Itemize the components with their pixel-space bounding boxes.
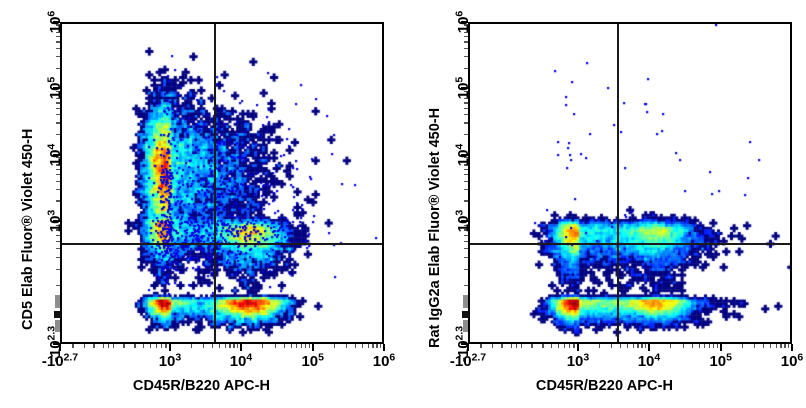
x-tick-minor bbox=[203, 344, 204, 348]
x-tick-minor bbox=[108, 344, 109, 348]
x-tick-minor bbox=[150, 344, 151, 348]
x-tick-minor bbox=[212, 344, 213, 348]
x-tick-minor bbox=[521, 344, 522, 348]
sample-plot-area[interactable] bbox=[60, 22, 384, 344]
sample-density-plot bbox=[62, 24, 382, 342]
y-tick-minor bbox=[56, 102, 60, 103]
x-tick-minor bbox=[301, 344, 302, 348]
x-tick-minor bbox=[511, 344, 512, 348]
x-tick-minor bbox=[531, 344, 532, 348]
y-tick-minor bbox=[56, 269, 60, 270]
y-tick-minor bbox=[56, 48, 60, 49]
x-tick-minor bbox=[699, 344, 700, 348]
y-tick-minor bbox=[464, 41, 468, 42]
x-tick-major bbox=[312, 344, 314, 351]
isotype-horizontal-gate[interactable] bbox=[470, 243, 790, 245]
y-tick-label: 105 bbox=[455, 77, 472, 100]
y-tick-minor bbox=[464, 36, 468, 37]
y-tick-label: 106 bbox=[47, 11, 64, 34]
x-tick-major bbox=[577, 344, 579, 351]
x-tick-minor bbox=[620, 344, 621, 348]
x-tick-minor bbox=[599, 344, 600, 348]
x-tick-minor bbox=[72, 344, 73, 348]
sample-axis-nub-lower[interactable] bbox=[55, 320, 60, 332]
x-tick-minor bbox=[542, 344, 543, 348]
x-tick-minor bbox=[704, 344, 705, 348]
x-tick-minor bbox=[551, 344, 552, 348]
x-tick-minor bbox=[334, 344, 335, 348]
y-tick-minor bbox=[464, 169, 468, 170]
x-tick-minor bbox=[229, 344, 230, 348]
y-tick-label: 103 bbox=[47, 210, 64, 233]
x-tick-minor bbox=[225, 344, 226, 348]
x-tick-minor bbox=[165, 344, 166, 348]
y-tick-minor bbox=[56, 108, 60, 109]
x-tick-minor bbox=[372, 344, 373, 348]
y-tick-minor bbox=[464, 102, 468, 103]
x-tick-minor bbox=[627, 344, 628, 348]
x-tick-major bbox=[383, 344, 385, 351]
x-tick-label: 103 bbox=[567, 353, 590, 370]
x-tick-minor bbox=[763, 344, 764, 348]
x-tick-minor bbox=[637, 344, 638, 348]
x-tick-major bbox=[720, 344, 722, 351]
x-tick-minor bbox=[93, 344, 94, 348]
y-tick-minor bbox=[464, 189, 468, 190]
sample-panel: -102.7103104105106 -102.3103104105106 CD… bbox=[0, 0, 403, 408]
isotype-y-axis-title: Rat IgG2a Elab Fluor® Violet 450-H bbox=[427, 108, 443, 348]
isotype-axis-nub-upper[interactable] bbox=[463, 295, 468, 308]
x-tick-label: 105 bbox=[709, 353, 732, 370]
x-tick-minor bbox=[305, 344, 306, 348]
x-tick-minor bbox=[713, 344, 714, 348]
x-tick-minor bbox=[717, 344, 718, 348]
x-tick-label: 104 bbox=[638, 353, 661, 370]
x-tick-minor bbox=[123, 344, 124, 348]
x-tick-minor bbox=[480, 344, 481, 348]
x-tick-minor bbox=[501, 344, 502, 348]
y-tick-minor bbox=[56, 200, 60, 201]
y-tick-minor bbox=[464, 235, 468, 236]
y-tick-minor bbox=[464, 56, 468, 57]
y-tick-label: 105 bbox=[47, 77, 64, 100]
x-tick-minor bbox=[770, 344, 771, 348]
x-tick-minor bbox=[156, 344, 157, 348]
x-tick-minor bbox=[573, 344, 574, 348]
x-tick-minor bbox=[262, 344, 263, 348]
y-tick-minor bbox=[56, 257, 60, 258]
flow-cytometry-figure: -102.7103104105106 -102.3103104105106 CD… bbox=[0, 0, 806, 408]
x-tick-minor bbox=[780, 344, 781, 348]
x-tick-major bbox=[791, 344, 793, 351]
y-tick-minor bbox=[464, 248, 468, 249]
x-tick-minor bbox=[776, 344, 777, 348]
x-tick-minor bbox=[380, 344, 381, 348]
y-tick-minor bbox=[464, 174, 468, 175]
x-tick-label: 106 bbox=[781, 353, 804, 370]
y-tick-label: 104 bbox=[47, 144, 64, 167]
x-tick-label: 103 bbox=[159, 353, 182, 370]
x-tick-minor bbox=[492, 344, 493, 348]
x-tick-minor bbox=[103, 344, 104, 348]
x-tick-minor bbox=[754, 344, 755, 348]
x-tick-minor bbox=[564, 344, 565, 348]
y-tick-minor bbox=[464, 257, 468, 258]
x-tick-minor bbox=[161, 344, 162, 348]
x-tick-label: 104 bbox=[230, 353, 253, 370]
x-tick-minor bbox=[346, 344, 347, 348]
x-tick-minor bbox=[113, 344, 114, 348]
y-tick-minor bbox=[56, 241, 60, 242]
x-tick-minor bbox=[368, 344, 369, 348]
isotype-axis-nub-handle[interactable] bbox=[462, 311, 469, 318]
isotype-density-plot bbox=[470, 24, 790, 342]
x-tick-minor bbox=[742, 344, 743, 348]
isotype-x-axis-title: CD45R/B220 APC-H bbox=[403, 378, 806, 394]
x-tick-minor bbox=[355, 344, 356, 348]
y-tick-minor bbox=[464, 122, 468, 123]
x-tick-minor bbox=[670, 344, 671, 348]
x-tick-minor bbox=[788, 344, 789, 348]
y-tick-minor bbox=[464, 285, 468, 286]
y-tick-minor bbox=[56, 56, 60, 57]
x-tick-minor bbox=[284, 344, 285, 348]
y-tick-minor bbox=[56, 122, 60, 123]
y-tick-minor bbox=[56, 36, 60, 37]
y-tick-minor bbox=[56, 248, 60, 249]
y-tick-minor bbox=[464, 269, 468, 270]
y-tick-label: 104 bbox=[455, 144, 472, 167]
sample-horizontal-gate[interactable] bbox=[62, 243, 382, 245]
x-tick-label: 106 bbox=[373, 353, 396, 370]
isotype-plot-area[interactable] bbox=[468, 22, 792, 344]
x-tick-major bbox=[648, 344, 650, 351]
sample-vertical-gate[interactable] bbox=[214, 24, 216, 342]
y-tick-minor bbox=[56, 114, 60, 115]
y-tick-minor bbox=[56, 169, 60, 170]
y-tick-minor bbox=[464, 134, 468, 135]
x-tick-minor bbox=[569, 344, 570, 348]
y-tick-label: 106 bbox=[455, 11, 472, 34]
x-tick-minor bbox=[709, 344, 710, 348]
y-tick-minor bbox=[56, 174, 60, 175]
y-tick-minor bbox=[56, 68, 60, 69]
y-tick-minor bbox=[464, 114, 468, 115]
y-tick-minor bbox=[56, 285, 60, 286]
x-tick-minor bbox=[233, 344, 234, 348]
y-tick-minor bbox=[464, 48, 468, 49]
x-tick-minor bbox=[219, 344, 220, 348]
x-tick-minor bbox=[692, 344, 693, 348]
y-tick-minor bbox=[464, 181, 468, 182]
sample-y-axis-title: CD5 Elab Fluor® Violet 450-H bbox=[20, 129, 36, 330]
sample-x-axis-title: CD45R/B220 APC-H bbox=[0, 378, 403, 394]
x-tick-minor bbox=[558, 344, 559, 348]
y-tick-minor bbox=[56, 189, 60, 190]
y-tick-minor bbox=[464, 68, 468, 69]
y-tick-minor bbox=[464, 200, 468, 201]
x-tick-minor bbox=[143, 344, 144, 348]
x-tick-minor bbox=[641, 344, 642, 348]
x-tick-major bbox=[240, 344, 242, 351]
x-tick-minor bbox=[784, 344, 785, 348]
x-tick-label: 105 bbox=[301, 353, 324, 370]
y-tick-minor bbox=[464, 108, 468, 109]
x-tick-minor bbox=[291, 344, 292, 348]
isotype-axis-nub-lower[interactable] bbox=[463, 320, 468, 332]
x-tick-minor bbox=[309, 344, 310, 348]
x-tick-minor bbox=[376, 344, 377, 348]
x-tick-minor bbox=[275, 344, 276, 348]
y-tick-label: 103 bbox=[455, 210, 472, 233]
x-tick-minor bbox=[296, 344, 297, 348]
x-tick-minor bbox=[134, 344, 135, 348]
x-tick-minor bbox=[84, 344, 85, 348]
y-tick-minor bbox=[464, 241, 468, 242]
x-tick-major bbox=[169, 344, 171, 351]
y-tick-minor bbox=[56, 134, 60, 135]
x-tick-minor bbox=[516, 344, 517, 348]
y-tick-minor bbox=[56, 41, 60, 42]
x-tick-minor bbox=[362, 344, 363, 348]
y-tick-minor bbox=[56, 181, 60, 182]
isotype-panel: -102.7103104105106 -102.3103104105106 CD… bbox=[403, 0, 806, 408]
x-tick-minor bbox=[191, 344, 192, 348]
x-tick-minor bbox=[645, 344, 646, 348]
x-tick-minor bbox=[611, 344, 612, 348]
x-tick-minor bbox=[237, 344, 238, 348]
sample-axis-nub-upper[interactable] bbox=[55, 295, 60, 308]
isotype-vertical-gate[interactable] bbox=[617, 24, 619, 342]
y-tick-minor bbox=[56, 235, 60, 236]
x-tick-minor bbox=[633, 344, 634, 348]
x-tick-minor bbox=[683, 344, 684, 348]
sample-axis-nub-handle[interactable] bbox=[54, 311, 61, 318]
